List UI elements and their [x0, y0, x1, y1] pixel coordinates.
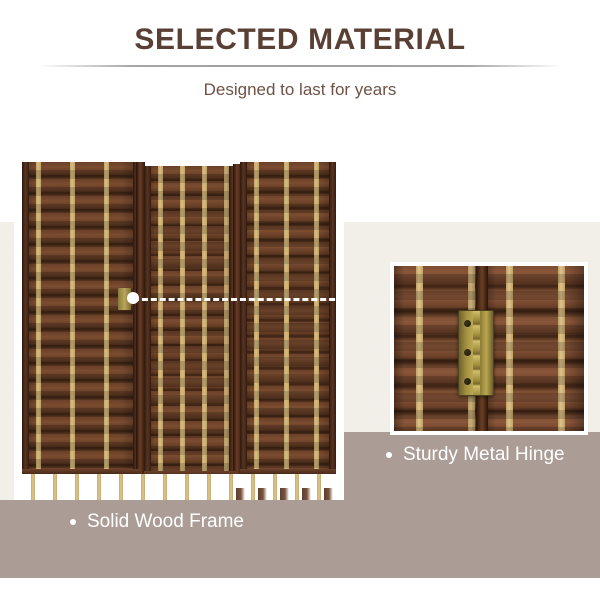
caption-sturdy-metal-hinge: Sturdy Metal Hinge — [386, 444, 565, 466]
hinge-knuckle — [473, 311, 480, 395]
page-subtitle: Designed to last for years — [0, 80, 600, 100]
weave-shading — [22, 162, 140, 480]
bullet-icon — [70, 519, 76, 525]
hinge-screw — [464, 349, 471, 356]
weave-shading — [144, 166, 236, 476]
hinge-panel-right — [484, 266, 584, 431]
weave-shading — [240, 162, 336, 480]
callout-dashed-line — [133, 298, 344, 301]
weave-shading — [484, 266, 584, 431]
screen-panel-1 — [22, 162, 140, 480]
legs-feet — [232, 488, 336, 500]
hinge-screw — [464, 378, 471, 385]
metal-hinge-icon — [458, 310, 494, 396]
page-title: SELECTED MATERIAL — [0, 23, 600, 57]
screen-legs-area — [22, 474, 336, 500]
screen-panel-2 — [144, 166, 236, 476]
header-divider — [38, 65, 562, 67]
hinge-detail-photo-inner — [390, 262, 588, 435]
callout-anchor-dot — [127, 292, 139, 304]
screen-panel-3 — [240, 162, 336, 480]
panel-frame-post-right — [329, 162, 336, 480]
bullet-icon — [386, 452, 392, 458]
hinge-screw — [464, 320, 471, 327]
infographic-canvas: SELECTED MATERIAL Designed to last for y… — [0, 0, 600, 600]
caption-label: Solid Wood Frame — [87, 511, 244, 533]
folding-screen-photo — [14, 158, 344, 500]
caption-label: Sturdy Metal Hinge — [403, 444, 565, 466]
panel-frame-post-left — [240, 162, 247, 480]
panel-frame-post-left — [144, 166, 151, 476]
folding-screen-photo-inner — [14, 158, 344, 500]
caption-solid-wood-frame: Solid Wood Frame — [70, 511, 244, 533]
panel-frame-post-left — [22, 162, 29, 480]
hinge-detail-photo — [390, 262, 588, 435]
